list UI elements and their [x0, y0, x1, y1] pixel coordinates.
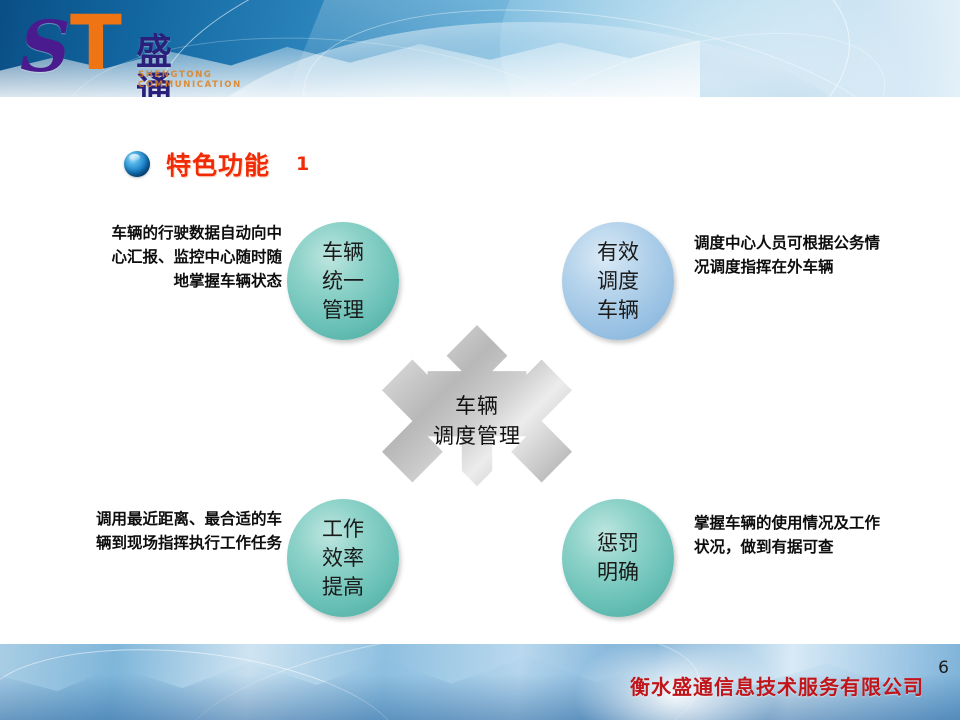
logo-st-mark: S T [18, 12, 130, 78]
diagram-container: 车辆的行驶数据自动向中心汇报、监控中心随时随地掌握车辆状态 调度中心人员可根据公… [0, 95, 960, 655]
node-label-line: 提高 [322, 573, 364, 602]
node-clear-penalty[interactable]: 惩罚 明确 [562, 499, 674, 617]
header-banner: S T 盛通通信 SHENGTONG COMMUNICATION [0, 0, 960, 97]
node-label-line: 管理 [322, 296, 364, 325]
center-node-label: 车辆 调度管理 [382, 325, 572, 517]
node-label-line: 车辆 [322, 238, 364, 267]
footer-company-name: 衡水盛通信息技术服务有限公司 [630, 671, 924, 700]
description-top-left: 车辆的行驶数据自动向中心汇报、监控中心随时随地掌握车辆状态 [104, 221, 282, 293]
node-vehicle-unified-management[interactable]: 车辆 统一 管理 [287, 222, 399, 340]
node-label-line: 效率 [322, 544, 364, 573]
node-label-line: 明确 [597, 558, 639, 587]
brand-name-en: SHENGTONG COMMUNICATION [138, 70, 242, 90]
description-top-right: 调度中心人员可根据公务情况调度指挥在外车辆 [694, 231, 890, 279]
node-effective-vehicle-dispatch[interactable]: 有效 调度 车辆 [562, 222, 674, 340]
node-label-line: 车辆 [597, 296, 639, 325]
slide: S T 盛通通信 SHENGTONG COMMUNICATION 特色功能 1 … [0, 0, 960, 720]
center-node-line-1: 车辆 [455, 391, 499, 421]
node-label-line: 惩罚 [597, 529, 639, 558]
node-label-line: 有效 [597, 238, 639, 267]
node-work-efficiency-improved[interactable]: 工作 效率 提高 [287, 499, 399, 617]
page-number: 6 [938, 658, 949, 678]
company-logo: S T 盛通通信 SHENGTONG COMMUNICATION [18, 12, 130, 82]
footer-banner: 衡水盛通信息技术服务有限公司 [0, 644, 960, 720]
logo-letter-s: S [20, 16, 69, 78]
node-label-line: 调度 [597, 267, 639, 296]
logo-letter-t: T [70, 12, 122, 74]
node-label-line: 工作 [322, 515, 364, 544]
center-node-line-2: 调度管理 [433, 421, 521, 451]
node-label-line: 统一 [322, 267, 364, 296]
description-bottom-left: 调用最近距离、最合适的车辆到现场指挥执行工作任务 [86, 507, 282, 555]
description-bottom-right: 掌握车辆的使用情况及工作状况，做到有据可查 [694, 511, 890, 559]
